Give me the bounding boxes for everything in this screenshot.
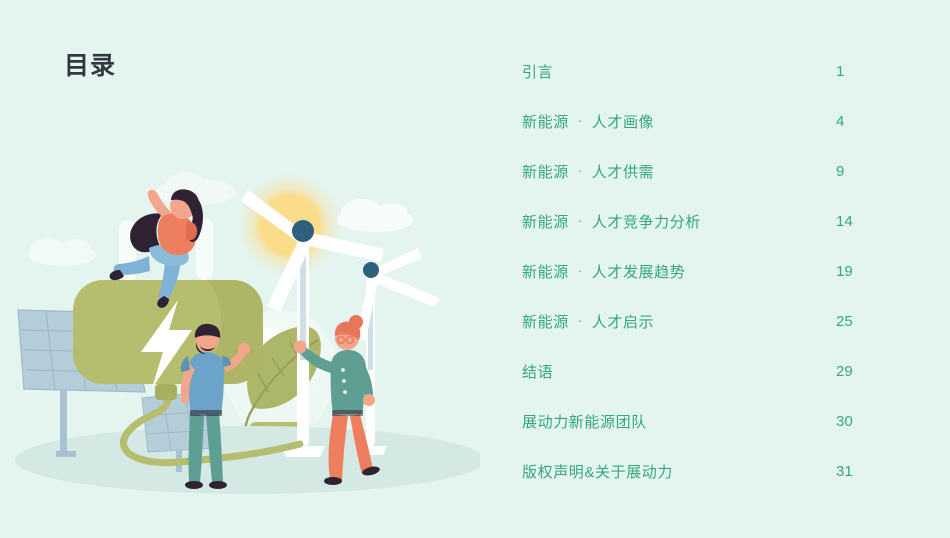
toc-entry-1[interactable]: 引言 1	[522, 46, 852, 96]
toc-entry-separator: ·	[578, 213, 583, 228]
toc-entry-prefix: 新能源	[522, 161, 569, 182]
toc-entry-page-number: 14	[836, 213, 862, 230]
toc-entry-page-number: 30	[836, 413, 862, 430]
toc-entry-label: 结语	[522, 361, 553, 382]
toc-entry-page-number: 4	[836, 113, 862, 130]
toc-entry-page-number: 9	[836, 163, 862, 180]
toc-entry-label: 引言	[522, 61, 553, 82]
toc-entry-6[interactable]: 新能源 · 人才启示 25	[522, 296, 852, 346]
toc-entry-page-number: 31	[836, 463, 862, 480]
toc-entry-label: 展动力新能源团队	[522, 411, 647, 432]
toc-entry-page-number: 29	[836, 363, 862, 380]
toc-entry-label: 新能源 · 人才发展趋势	[522, 261, 685, 282]
toc-entry-separator: ·	[578, 263, 583, 278]
toc-entry-9[interactable]: 版权声明&关于展动力 31	[522, 446, 852, 496]
toc-entry-2[interactable]: 新能源 · 人才画像 4	[522, 96, 852, 146]
toc-entry-label: 新能源 · 人才竞争力分析	[522, 211, 701, 232]
table-of-contents: 引言 1 新能源 · 人才画像 4 新能源 · 人才供需 9 新能	[522, 46, 852, 496]
page-title: 目录	[64, 54, 116, 79]
toc-entry-label: 新能源 · 人才画像	[522, 111, 654, 132]
toc-entry-label: 新能源 · 人才启示	[522, 311, 654, 332]
toc-entry-page-number: 19	[836, 263, 862, 280]
ground-shadow	[15, 426, 480, 494]
toc-entry-5[interactable]: 新能源 · 人才发展趋势 19	[522, 246, 852, 296]
toc-slide: 目录	[0, 0, 950, 538]
toc-entry-prefix: 版权声明&关于展动力	[522, 461, 673, 482]
toc-entry-subtitle: 人才画像	[592, 111, 654, 132]
toc-entry-separator: ·	[578, 313, 583, 328]
toc-entry-7[interactable]: 结语 29	[522, 346, 852, 396]
toc-entry-4[interactable]: 新能源 · 人才竞争力分析 14	[522, 196, 852, 246]
toc-entry-prefix: 新能源	[522, 211, 569, 232]
toc-entry-subtitle: 人才竞争力分析	[592, 211, 701, 232]
toc-entry-subtitle: 人才发展趋势	[592, 261, 686, 282]
toc-entry-prefix: 结语	[522, 361, 553, 382]
toc-entry-prefix: 新能源	[522, 311, 569, 332]
toc-entry-label: 新能源 · 人才供需	[522, 161, 654, 182]
toc-entry-prefix: 新能源	[522, 111, 569, 132]
toc-entry-page-number: 1	[836, 63, 862, 80]
toc-entry-8[interactable]: 展动力新能源团队 30	[522, 396, 852, 446]
toc-entry-prefix: 新能源	[522, 261, 569, 282]
renewable-energy-illustration	[0, 170, 480, 538]
toc-entry-prefix: 引言	[522, 61, 553, 82]
toc-entry-label: 版权声明&关于展动力	[522, 461, 673, 482]
toc-entry-separator: ·	[578, 113, 583, 128]
toc-entry-prefix: 展动力新能源团队	[522, 411, 647, 432]
toc-entry-page-number: 25	[836, 313, 862, 330]
toc-entry-separator: ·	[578, 163, 583, 178]
toc-entry-subtitle: 人才供需	[592, 161, 654, 182]
toc-entry-3[interactable]: 新能源 · 人才供需 9	[522, 146, 852, 196]
toc-entry-subtitle: 人才启示	[592, 311, 654, 332]
